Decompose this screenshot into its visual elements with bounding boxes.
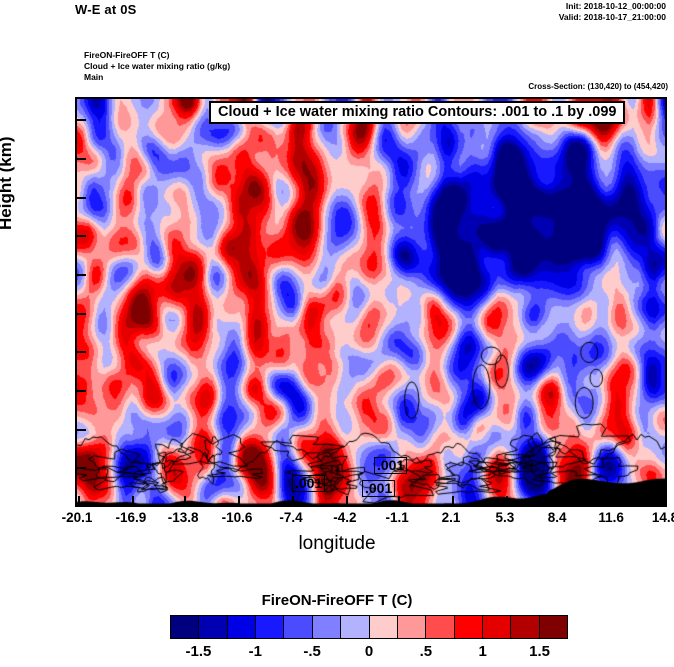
- colorbar-segment-4: [284, 616, 312, 638]
- colorbar-segment-13: [540, 616, 567, 638]
- colorbar-tick-6: 1.5: [510, 643, 570, 660]
- colorbar-segment-3: [256, 616, 284, 638]
- contour-value-label-1: .001: [292, 475, 325, 492]
- temperature-anomaly-field: [77, 99, 665, 505]
- colorbar[interactable]: [170, 615, 568, 639]
- x-tick-mark-8: [506, 496, 508, 505]
- colorbar-tick-4: .5: [396, 643, 456, 660]
- colorbar-segment-0: [171, 616, 199, 638]
- y-tick-mark-1: [77, 467, 86, 469]
- x-tick-label-11: 14.8: [630, 510, 674, 525]
- variable-info-block: FireON-FireOFF T (C) Cloud + Ice water m…: [84, 50, 230, 83]
- colorbar-segment-10: [455, 616, 483, 638]
- colorbar-segment-8: [398, 616, 426, 638]
- x-tick-mark-6: [398, 496, 400, 505]
- info-line-domain: Main: [84, 72, 230, 83]
- x-tick-mark-10: [612, 496, 614, 505]
- y-tick-mark-0: [77, 506, 86, 507]
- y-tick-mark-5: [77, 313, 86, 315]
- valid-time-label: Valid: 2018-10-17_21:00:00: [559, 12, 666, 22]
- y-tick-mark-3: [77, 390, 86, 392]
- colorbar-segment-7: [370, 616, 398, 638]
- x-tick-mark-0: [78, 496, 80, 505]
- page-title: W-E at 0S: [75, 2, 137, 17]
- x-tick-mark-4: [292, 496, 294, 505]
- y-tick-mark-6: [77, 274, 86, 276]
- colorbar-segment-5: [313, 616, 341, 638]
- x-tick-mark-3: [238, 496, 240, 505]
- y-tick-mark-7: [77, 235, 86, 237]
- colorbar-segment-9: [426, 616, 454, 638]
- colorbar-segment-12: [511, 616, 539, 638]
- cross-section-label: Cross-Section: (130,420) to (454,420): [528, 82, 668, 91]
- y-tick-mark-2: [77, 429, 86, 431]
- x-tick-mark-7: [452, 496, 454, 505]
- colorbar-segment-11: [483, 616, 511, 638]
- x-tick-mark-5: [346, 496, 348, 505]
- x-tick-mark-9: [558, 496, 560, 505]
- colorbar-segment-6: [341, 616, 369, 638]
- cross-section-plot[interactable]: Cloud + Ice water mixing ratio Contours:…: [75, 97, 667, 507]
- x-tick-mark-11: [666, 496, 667, 505]
- x-axis-label: longitude: [0, 533, 674, 555]
- colorbar-tick-2: -.5: [282, 643, 342, 660]
- x-tick-mark-1: [132, 496, 134, 505]
- colorbar-tick-3: 0: [339, 643, 399, 660]
- init-time-label: Init: 2018-10-12_00:00:00: [566, 1, 666, 11]
- contour-value-label-2: .001: [362, 480, 395, 497]
- colorbar-tick-0: -1.5: [168, 643, 228, 660]
- info-line-overlay: Cloud + Ice water mixing ratio (g/kg): [84, 61, 230, 72]
- colorbar-tick-1: -1: [225, 643, 285, 660]
- x-tick-mark-2: [184, 496, 186, 505]
- info-line-variable: FireON-FireOFF T (C): [84, 50, 230, 61]
- colorbar-tick-5: 1: [453, 643, 513, 660]
- contour-value-label-0: .001: [374, 457, 407, 474]
- y-tick-mark-8: [77, 197, 86, 199]
- y-tick-mark-4: [77, 351, 86, 353]
- colorbar-title: FireON-FireOFF T (C): [0, 592, 674, 609]
- y-axis-label: Height (km): [0, 137, 16, 231]
- contour-banner: Cloud + Ice water mixing ratio Contours:…: [209, 101, 625, 124]
- colorbar-segment-2: [228, 616, 256, 638]
- y-tick-mark-10: [77, 119, 86, 121]
- y-tick-mark-9: [77, 158, 86, 160]
- colorbar-segment-1: [199, 616, 227, 638]
